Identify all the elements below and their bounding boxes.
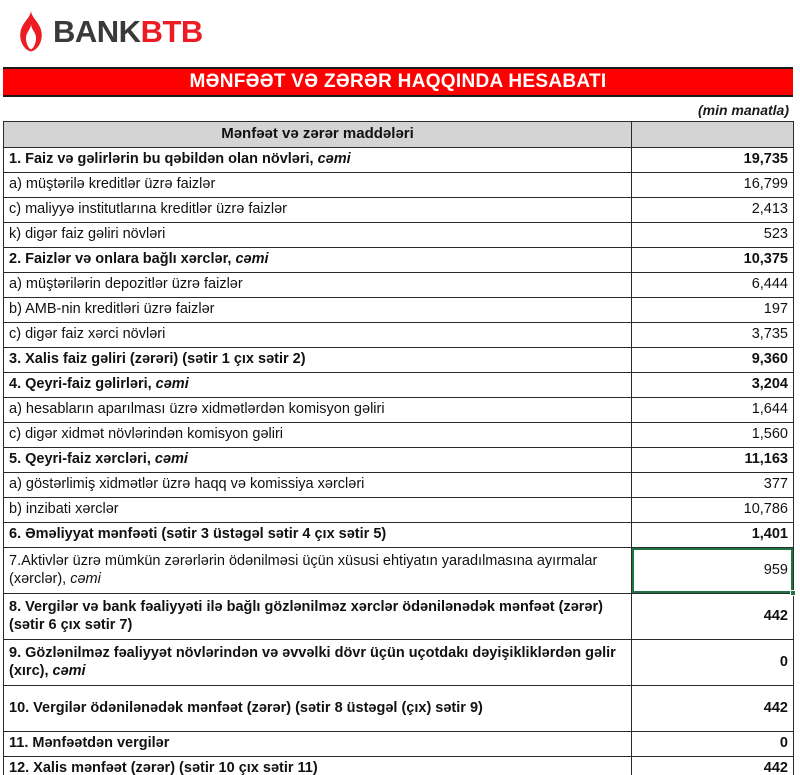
row-value[interactable]: 0	[632, 732, 794, 757]
table-row: b) inzibati xərclər10,786	[4, 498, 794, 523]
row-label[interactable]: 8. Vergilər və bank fəaliyyəti ilə bağlı…	[4, 594, 632, 640]
row-label[interactable]: 10. Vergilər ödənilənədək mənfəət (zərər…	[4, 686, 632, 732]
row-label-emphasis: cəmi	[156, 376, 189, 392]
row-label[interactable]: 7.Aktivlər üzrə mümkün zərərlərin ödənil…	[4, 548, 632, 594]
column-header-items: Mənfəət və zərər maddələri	[4, 122, 632, 148]
table-row: 10. Vergilər ödənilənədək mənfəət (zərər…	[4, 686, 794, 732]
row-label-emphasis: cəmi	[53, 663, 86, 679]
row-value[interactable]: 442	[632, 594, 794, 640]
table-row: c) digər faiz xərci növləri3,735	[4, 323, 794, 348]
row-value[interactable]: 442	[632, 686, 794, 732]
brand-name-dark: BANK	[53, 14, 141, 49]
row-label[interactable]: k) digər faiz gəliri növləri	[4, 223, 632, 248]
row-label[interactable]: b) inzibati xərclər	[4, 498, 632, 523]
row-label-emphasis: cəmi	[318, 151, 351, 167]
table-row: 11. Mənfəətdən vergilər0	[4, 732, 794, 757]
unit-note-text: (min manatla)	[698, 102, 789, 118]
row-label[interactable]: 1. Faiz və gəlirlərin bu qəbildən olan n…	[4, 148, 632, 173]
table-row: 1. Faiz və gəlirlərin bu qəbildən olan n…	[4, 148, 794, 173]
row-value[interactable]: 10,375	[632, 248, 794, 273]
row-value[interactable]: 3,735	[632, 323, 794, 348]
row-label[interactable]: b) AMB-nin kreditləri üzrə faizlər	[4, 298, 632, 323]
row-label[interactable]: c) maliyyə institutlarına kreditlər üzrə…	[4, 198, 632, 223]
row-label[interactable]: 3. Xalis faiz gəliri (zərəri) (sətir 1 ç…	[4, 348, 632, 373]
row-label-emphasis: cəmi	[235, 251, 268, 267]
row-label[interactable]: 9. Gözlənilməz fəaliyyət növlərindən və …	[4, 640, 632, 686]
report-title-banner: MƏNFƏƏT VƏ ZƏRƏR HAQQINDA HESABATI	[3, 67, 793, 97]
table-row: 7.Aktivlər üzrə mümkün zərərlərin ödənil…	[4, 548, 794, 594]
row-label[interactable]: c) digər faiz xərci növləri	[4, 323, 632, 348]
table-row: c) digər xidmət növlərindən komisyon gəl…	[4, 423, 794, 448]
table-header-row: Mənfəət və zərər maddələri	[4, 122, 794, 148]
table-row: a) müştərilərin depozitlər üzrə faizlər6…	[4, 273, 794, 298]
report-page: BANKBTB MƏNFƏƏT VƏ ZƏRƏR HAQQINDA HESABA…	[0, 0, 800, 775]
row-value[interactable]: 1,401	[632, 523, 794, 548]
table-row: 6. Əməliyyat mənfəəti (sətir 3 üstəgəl s…	[4, 523, 794, 548]
table-row: 5. Qeyri-faiz xərcləri, cəmi11,163	[4, 448, 794, 473]
table-row: a) hesabların aparılması üzrə xidmətlərd…	[4, 398, 794, 423]
row-value-selected-cell[interactable]: 959	[632, 548, 794, 594]
row-label[interactable]: a) hesabların aparılması üzrə xidmətlərd…	[4, 398, 632, 423]
brand-header: BANKBTB	[0, 0, 800, 62]
row-label[interactable]: 2. Faizlər və onlara bağlı xərclər, cəmi	[4, 248, 632, 273]
row-value[interactable]: 197	[632, 298, 794, 323]
row-value[interactable]: 442	[632, 757, 794, 775]
table-body: 1. Faiz və gəlirlərin bu qəbildən olan n…	[4, 148, 794, 775]
row-value[interactable]: 19,735	[632, 148, 794, 173]
row-value[interactable]: 1,644	[632, 398, 794, 423]
row-value[interactable]: 11,163	[632, 448, 794, 473]
row-value[interactable]: 377	[632, 473, 794, 498]
row-value[interactable]: 6,444	[632, 273, 794, 298]
row-value[interactable]: 9,360	[632, 348, 794, 373]
table-row: 2. Faizlər və onlara bağlı xərclər, cəmi…	[4, 248, 794, 273]
row-label[interactable]: 4. Qeyri-faiz gəlirləri, cəmi	[4, 373, 632, 398]
row-label[interactable]: a) müştərilə kreditlər üzrə faizlər	[4, 173, 632, 198]
row-label[interactable]: 6. Əməliyyat mənfəəti (sətir 3 üstəgəl s…	[4, 523, 632, 548]
row-label[interactable]: a) müştərilərin depozitlər üzrə faizlər	[4, 273, 632, 298]
row-value[interactable]: 3,204	[632, 373, 794, 398]
row-value[interactable]: 10,786	[632, 498, 794, 523]
row-value[interactable]: 523	[632, 223, 794, 248]
column-header-amount	[632, 122, 794, 148]
row-label[interactable]: 5. Qeyri-faiz xərcləri, cəmi	[4, 448, 632, 473]
row-label-emphasis: cəmi	[155, 451, 188, 467]
table-row: a) müştərilə kreditlər üzrə faizlər16,79…	[4, 173, 794, 198]
flame-icon	[18, 10, 44, 52]
table-row: b) AMB-nin kreditləri üzrə faizlər197	[4, 298, 794, 323]
table-row: k) digər faiz gəliri növləri523	[4, 223, 794, 248]
unit-note: (min manatla)	[3, 99, 793, 120]
table-row: 4. Qeyri-faiz gəlirləri, cəmi3,204	[4, 373, 794, 398]
brand-wordmark: BANKBTB	[53, 16, 203, 47]
table-row: 8. Vergilər və bank fəaliyyəti ilə bağlı…	[4, 594, 794, 640]
table-row: a) göstərlimiş xidmətlər üzrə haqq və ko…	[4, 473, 794, 498]
row-value[interactable]: 16,799	[632, 173, 794, 198]
table-row: 9. Gözlənilməz fəaliyyət növlərindən və …	[4, 640, 794, 686]
row-value[interactable]: 2,413	[632, 198, 794, 223]
row-label[interactable]: c) digər xidmət növlərindən komisyon gəl…	[4, 423, 632, 448]
report-title: MƏNFƏƏT VƏ ZƏRƏR HAQQINDA HESABATI	[189, 71, 606, 93]
row-value[interactable]: 0	[632, 640, 794, 686]
profit-loss-table: Mənfəət və zərər maddələri 1. Faiz və gə…	[3, 121, 794, 775]
profit-loss-table-wrapper: Mənfəət və zərər maddələri 1. Faiz və gə…	[3, 121, 793, 775]
brand-name-red: BTB	[141, 14, 203, 49]
row-label[interactable]: 11. Mənfəətdən vergilər	[4, 732, 632, 757]
row-label[interactable]: a) göstərlimiş xidmətlər üzrə haqq və ko…	[4, 473, 632, 498]
table-row: c) maliyyə institutlarına kreditlər üzrə…	[4, 198, 794, 223]
table-row: 12. Xalis mənfəət (zərər) (sətir 10 çıx …	[4, 757, 794, 775]
row-label[interactable]: 12. Xalis mənfəət (zərər) (sətir 10 çıx …	[4, 757, 632, 775]
table-row: 3. Xalis faiz gəliri (zərəri) (sətir 1 ç…	[4, 348, 794, 373]
row-value[interactable]: 1,560	[632, 423, 794, 448]
row-label-emphasis: cəmi	[70, 571, 101, 587]
fill-handle[interactable]	[790, 590, 796, 596]
